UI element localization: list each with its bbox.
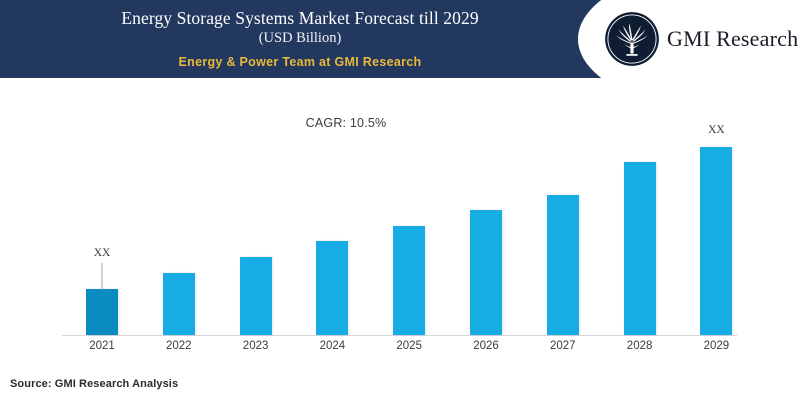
x-tick-2021: 2021 <box>64 340 140 352</box>
header-title-block: Energy Storage Systems Market Forecast t… <box>0 0 600 70</box>
gmi-research-logo[interactable]: GMI Research <box>604 8 794 70</box>
x-tick-2029: 2029 <box>678 340 754 352</box>
cagr-annotation: CAGR: 10.5% <box>246 116 446 130</box>
x-tick-2022: 2022 <box>141 340 217 352</box>
bar-chart-plot-area: CAGR: 10.5% XXXX 20212022202320242025202… <box>0 78 800 366</box>
x-axis-line <box>62 335 737 336</box>
bar-value-label-2029: XX <box>708 124 725 136</box>
x-tick-2025: 2025 <box>371 340 447 352</box>
bar-2025[interactable] <box>393 226 425 335</box>
bar-2024[interactable] <box>316 241 348 335</box>
x-tick-2023: 2023 <box>218 340 294 352</box>
team-byline: Energy & Power Team at GMI Research <box>0 55 600 70</box>
gmi-palm-emblem-icon <box>604 11 660 67</box>
x-tick-2024: 2024 <box>294 340 370 352</box>
chart-header-band: Energy Storage Systems Market Forecast t… <box>0 0 800 78</box>
bar-2027[interactable] <box>547 195 579 335</box>
bar-2028[interactable] <box>624 162 656 335</box>
x-tick-2028: 2028 <box>602 340 678 352</box>
bar-2021[interactable] <box>86 289 118 335</box>
page-title: Energy Storage Systems Market Forecast t… <box>0 7 600 29</box>
logo-wordmark: GMI Research <box>667 26 798 52</box>
x-tick-2027: 2027 <box>525 340 601 352</box>
bar-value-label-2021: XX <box>94 247 111 259</box>
x-tick-2026: 2026 <box>448 340 524 352</box>
bar-value-leader-line-2021 <box>102 263 103 290</box>
bar-2026[interactable] <box>470 210 502 335</box>
bar-2023[interactable] <box>240 257 272 335</box>
source-note: Source: GMI Research Analysis <box>10 378 178 390</box>
page-subtitle: (USD Billion) <box>0 29 600 48</box>
bar-2029[interactable] <box>700 147 732 335</box>
bar-2022[interactable] <box>163 273 195 335</box>
